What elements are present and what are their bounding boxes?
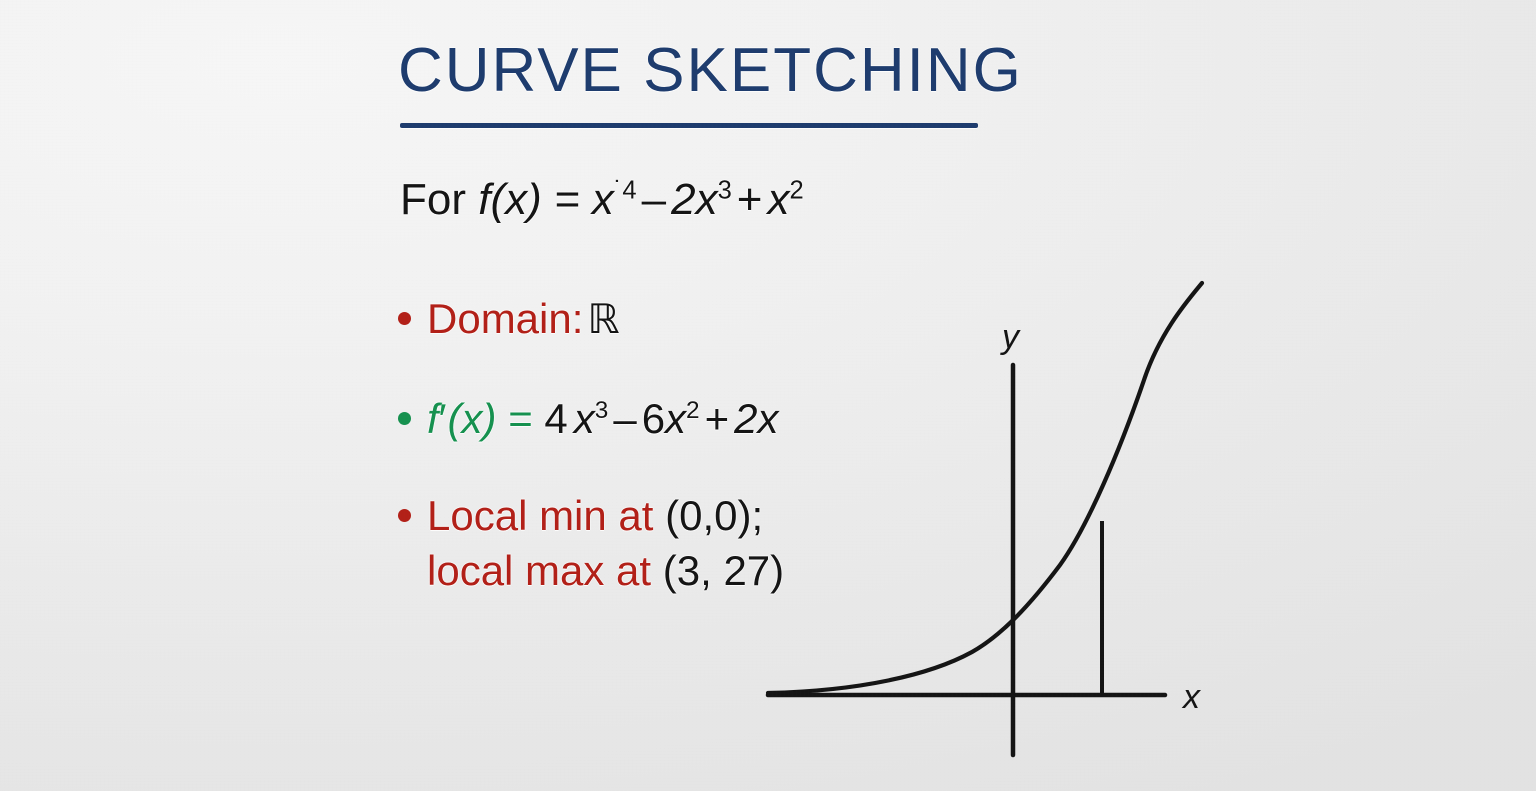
x-axis-label: x xyxy=(1181,678,1201,716)
derivative-term2-base: x xyxy=(665,395,686,442)
function-graph: y x xyxy=(740,260,1240,780)
bullet-dot-icon xyxy=(398,412,411,425)
page-title: CURVE SKETCHING xyxy=(398,38,998,103)
formula-term1-base: x xyxy=(592,175,614,224)
function-definition: For f(x) = x˙4–2x3+x2 xyxy=(400,176,804,224)
extrema-line2-label: local max at xyxy=(427,547,663,594)
formula-term3-exponent: 2 xyxy=(789,176,803,204)
title-underline xyxy=(400,123,978,128)
formula-operator-1: – xyxy=(637,175,671,224)
derivative-term2-exponent: 2 xyxy=(686,397,700,424)
derivative-prime-mark: ′ xyxy=(439,395,448,442)
curve-path xyxy=(768,283,1202,693)
whiteboard-slide: CURVE SKETCHING For f(x) = x˙4–2x3+x2 Do… xyxy=(0,0,1536,791)
formula-term2-base: 2x xyxy=(671,175,717,224)
formula-prefix: For xyxy=(400,175,478,224)
domain-value: ℝ xyxy=(583,295,619,343)
domain-label: Domain: xyxy=(427,295,583,342)
bullet-dot-icon xyxy=(398,509,411,522)
formula-term3-base: x xyxy=(767,175,789,224)
derivative-term1-base: x xyxy=(568,395,595,442)
bullet-dot-icon xyxy=(398,312,411,325)
formula-function-arg: (x) = xyxy=(490,175,591,224)
formula-term1-exponent: ˙4 xyxy=(614,176,637,204)
bullet-domain: Domain:ℝ xyxy=(398,293,620,345)
derivative-operator-1: – xyxy=(608,395,641,442)
derivative-term1-exponent: 3 xyxy=(595,397,609,424)
y-axis-label: y xyxy=(1000,318,1021,356)
derivative-function-name: f xyxy=(427,395,439,442)
derivative-equals: = xyxy=(497,395,545,442)
extrema-line1-label: Local min at xyxy=(427,492,665,539)
formula-operator-2: + xyxy=(732,175,768,224)
extrema-line2: local max at (3, 27) xyxy=(427,545,784,596)
title-block: CURVE SKETCHING xyxy=(398,38,998,103)
formula-term2-exponent: 3 xyxy=(718,176,732,204)
bullet-extrema: Local min at (0,0); local max at (3, 27) xyxy=(398,490,784,596)
derivative-function-arg: (x) xyxy=(448,395,497,442)
bullet-derivative: f′(x) = 4x3–6x2+2x xyxy=(398,393,779,444)
derivative-term1-coef: 4 xyxy=(544,395,567,442)
derivative-operator-2: + xyxy=(700,395,735,442)
derivative-term2-coef: 6 xyxy=(642,395,665,442)
formula-function-name: f xyxy=(478,175,490,224)
